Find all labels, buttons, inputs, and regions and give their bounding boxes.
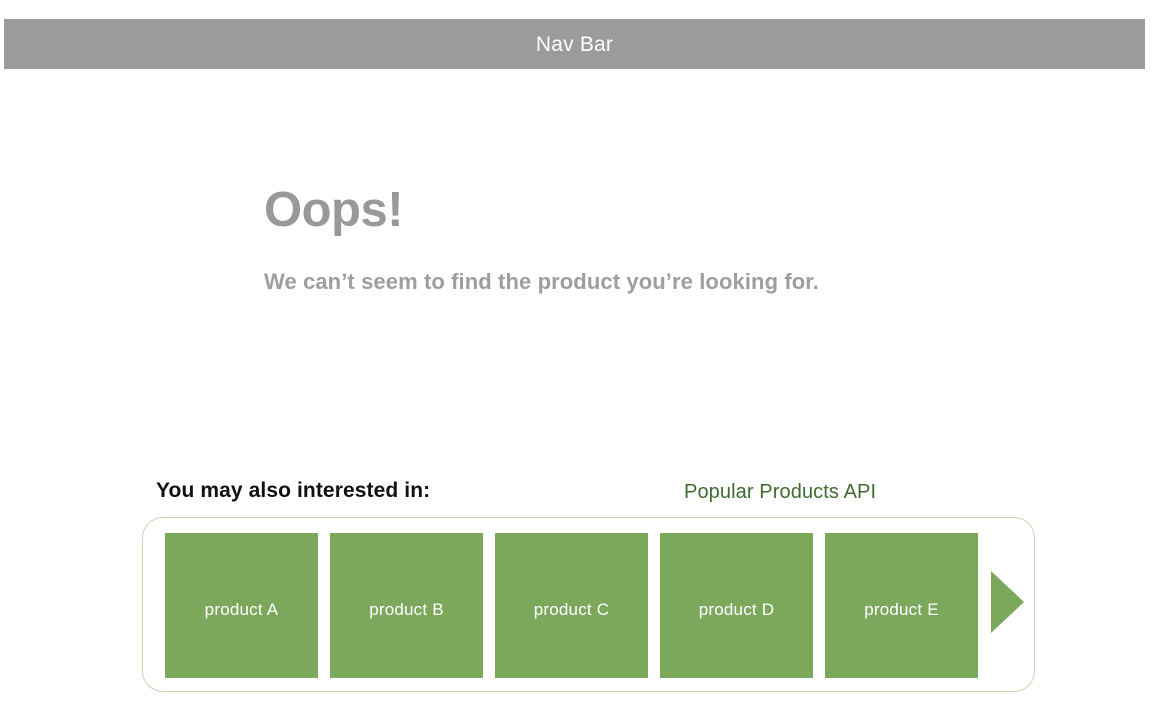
error-message-block: Oops! We can’t seem to find the product … <box>264 186 819 293</box>
product-card[interactable]: product B <box>330 533 483 678</box>
product-card-label: product A <box>205 601 279 618</box>
product-card-label: product E <box>864 601 939 618</box>
product-carousel: product A product B product C product D … <box>142 517 1035 692</box>
nav-bar-title: Nav Bar <box>536 34 613 55</box>
product-card[interactable]: product C <box>495 533 648 678</box>
nav-bar: Nav Bar <box>4 19 1145 69</box>
carousel-next-button[interactable] <box>991 571 1025 633</box>
product-card[interactable]: product E <box>825 533 978 678</box>
suggestions-label: You may also interested in: <box>156 480 430 501</box>
error-heading: Oops! <box>264 186 819 235</box>
carousel-track[interactable]: product A product B product C product D … <box>165 533 978 678</box>
product-card-label: product B <box>369 601 444 618</box>
play-triangle-right-icon <box>991 571 1025 633</box>
error-subtitle: We can’t seem to find the product you’re… <box>264 235 819 293</box>
popular-products-api-link[interactable]: Popular Products API <box>684 482 876 502</box>
product-card[interactable]: product A <box>165 533 318 678</box>
product-card-label: product C <box>534 601 610 618</box>
product-card[interactable]: product D <box>660 533 813 678</box>
product-card-label: product D <box>699 601 775 618</box>
